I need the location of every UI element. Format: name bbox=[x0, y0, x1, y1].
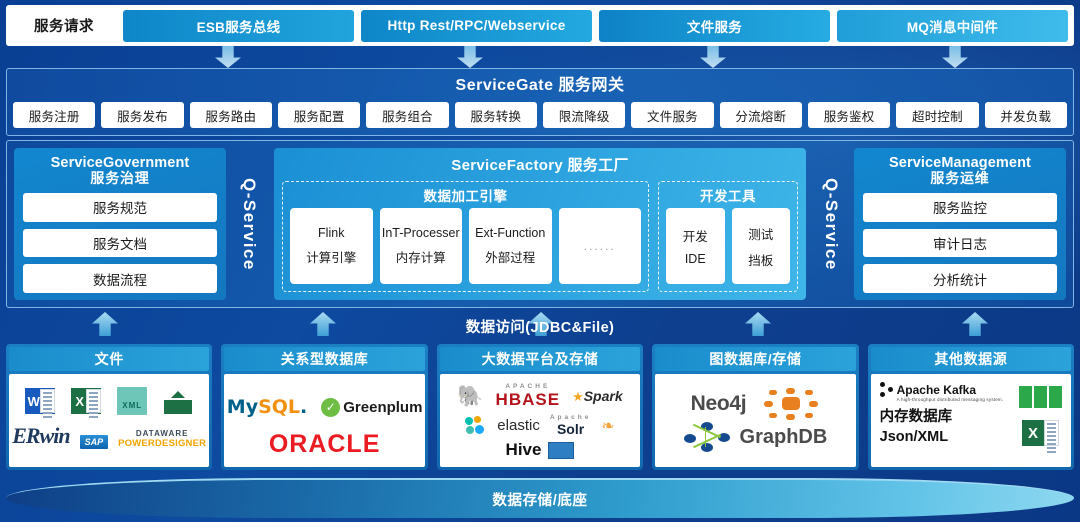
kafka-tagline: A high-throughput distributed messaging … bbox=[897, 397, 1004, 402]
engine-card-flink-l1: Flink bbox=[318, 226, 344, 240]
gate-item-service-transform[interactable]: 服务转换 bbox=[455, 102, 537, 128]
source-card-graph-db-body: Neo4j bbox=[655, 374, 855, 467]
gate-item-rate-limit[interactable]: 限流降级 bbox=[543, 102, 625, 128]
service-government-title-en: ServiceGovernment bbox=[23, 155, 217, 171]
dev-tools-group: 开发工具 开发 IDE 测试 挡板 bbox=[658, 181, 798, 292]
q-service-label-left: Q-Service bbox=[226, 148, 272, 300]
engine-card-ext-function-l2: 外部过程 bbox=[485, 247, 535, 266]
engine-card-more-l1: ...... bbox=[584, 239, 616, 253]
source-card-file-title: 文件 bbox=[9, 347, 209, 371]
service-factory-title: ServiceFactory 服务工厂 bbox=[282, 154, 798, 178]
tool-card-dev-ide[interactable]: 开发 IDE bbox=[666, 208, 725, 284]
hive-logo: Hive bbox=[506, 440, 542, 460]
service-request-bar: 服务请求 ESB服务总线 Http Rest/RPC/Webservice 文件… bbox=[6, 5, 1074, 46]
request-channel-mq[interactable]: MQ消息中间件 bbox=[837, 10, 1068, 42]
graphdb-node-icon bbox=[762, 388, 820, 420]
data-processing-engine-group: 数据加工引擎 Flink 计算引擎 InT-Processer 内存计算 Ext… bbox=[282, 181, 649, 292]
tool-card-test-mock-l1: 测试 bbox=[748, 224, 773, 243]
kafka-logo: Apache Kafka bbox=[880, 382, 1004, 397]
gate-item-service-route[interactable]: 服务路由 bbox=[190, 102, 272, 128]
flow-arrow-down-icon bbox=[700, 46, 726, 68]
spark-star-icon: ★ bbox=[572, 389, 584, 404]
request-channel-esb[interactable]: ESB服务总线 bbox=[123, 10, 354, 42]
tool-card-dev-ide-l1: 开发 bbox=[683, 226, 708, 245]
tool-card-dev-ide-l2: IDE bbox=[685, 252, 706, 266]
gov-item-service-doc[interactable]: 服务文档 bbox=[23, 229, 217, 258]
service-gate-capability-row: 服务注册 服务发布 服务路由 服务配置 服务组合 服务转换 限流降级 文件服务 … bbox=[13, 102, 1067, 128]
flow-arrow-down-icon bbox=[942, 46, 968, 68]
hive-file-icon bbox=[548, 442, 574, 459]
word-icon: W bbox=[25, 388, 55, 414]
request-channel-http[interactable]: Http Rest/RPC/Webservice bbox=[361, 10, 592, 42]
data-access-strip: 数据访问(JDBC&File) bbox=[0, 308, 1080, 344]
service-factory-body: 数据加工引擎 Flink 计算引擎 InT-Processer 内存计算 Ext… bbox=[282, 181, 798, 292]
xml-file-icon: XML bbox=[117, 387, 147, 415]
mgmt-item-analytics[interactable]: 分析统计 bbox=[863, 264, 1057, 293]
data-source-cards: 文件 W X XML bbox=[6, 344, 1074, 470]
elastic-logo: elastic bbox=[497, 417, 540, 434]
dev-tools-cards: 开发 IDE 测试 挡板 bbox=[666, 208, 790, 284]
data-processing-engine-cards: Flink 计算引擎 InT-Processer 内存计算 Ext-Functi… bbox=[290, 208, 641, 284]
service-management-panel: ServiceManagement 服务运维 服务监控 审计日志 分析统计 bbox=[854, 148, 1066, 300]
gov-item-service-spec[interactable]: 服务规范 bbox=[23, 193, 217, 222]
gate-item-service-config[interactable]: 服务配置 bbox=[278, 102, 360, 128]
source-card-other-title: 其他数据源 bbox=[871, 347, 1071, 371]
data-processing-engine-title: 数据加工引擎 bbox=[290, 186, 641, 208]
service-management-title-cn: 服务运维 bbox=[863, 171, 1057, 187]
service-platform-band: ServiceGovernment 服务治理 服务规范 服务文档 数据流程 Q-… bbox=[6, 140, 1074, 308]
neo4j-logo: Neo4j bbox=[691, 392, 747, 416]
excel-sheet-icon: X bbox=[1022, 420, 1059, 446]
dev-tools-title: 开发工具 bbox=[666, 186, 790, 208]
source-card-graph-db-title: 图数据库/存储 bbox=[655, 347, 855, 371]
memdb-label: 内存数据库 bbox=[880, 408, 1004, 428]
service-gate-title: ServiceGate 服务网关 bbox=[13, 73, 1067, 99]
jsonxml-label: Json/XML bbox=[880, 428, 1004, 448]
engine-card-flink-l2: 计算引擎 bbox=[306, 247, 356, 266]
source-card-bigdata[interactable]: 大数据平台及存储 🐘 APACHE HBASE ★Spark bbox=[437, 344, 643, 470]
service-government-panel: ServiceGovernment 服务治理 服务规范 服务文档 数据流程 bbox=[14, 148, 226, 300]
mgmt-item-service-monitor[interactable]: 服务监控 bbox=[863, 193, 1057, 222]
source-card-file-body: W X XML ERwin SAP bbox=[9, 374, 209, 467]
gate-item-service-register[interactable]: 服务注册 bbox=[13, 102, 95, 128]
tool-card-test-mock[interactable]: 测试 挡板 bbox=[732, 208, 791, 284]
spark-logo: ★Spark bbox=[572, 388, 623, 406]
engine-card-int-processer-l2: 内存计算 bbox=[396, 247, 446, 266]
service-gate-panel: ServiceGate 服务网关 服务注册 服务发布 服务路由 服务配置 服务组… bbox=[6, 68, 1074, 136]
source-card-bigdata-body: 🐘 APACHE HBASE ★Spark bbox=[440, 374, 640, 467]
green-grid-icon bbox=[1019, 386, 1062, 408]
service-management-title-en: ServiceManagement bbox=[863, 155, 1057, 171]
source-card-relational-db-body: MySQL. ✓ Greenplum ORACLE bbox=[224, 374, 424, 467]
gate-item-circuit-breaker[interactable]: 分流熔断 bbox=[720, 102, 802, 128]
gate-item-service-publish[interactable]: 服务发布 bbox=[101, 102, 183, 128]
service-government-items: 服务规范 服务文档 数据流程 bbox=[23, 193, 217, 293]
powerdesigner-logo: POWERDESIGNER bbox=[118, 438, 206, 449]
excel-icon: X bbox=[71, 388, 101, 414]
architecture-diagram: 服务请求 ESB服务总线 Http Rest/RPC/Webservice 文件… bbox=[0, 0, 1080, 522]
solr-flame-icon: ❧ bbox=[601, 416, 614, 436]
source-card-graph-db[interactable]: 图数据库/存储 Neo4j bbox=[652, 344, 858, 470]
service-management-items: 服务监控 审计日志 分析统计 bbox=[863, 193, 1057, 293]
tool-card-test-mock-l2: 挡板 bbox=[748, 250, 773, 269]
service-government-title-cn: 服务治理 bbox=[23, 171, 217, 187]
service-request-label: 服务请求 bbox=[12, 15, 116, 36]
engine-card-ext-function[interactable]: Ext-Function 外部过程 bbox=[469, 208, 552, 284]
engine-card-int-processer-l1: InT-Processer bbox=[382, 226, 460, 240]
engine-card-int-processer[interactable]: InT-Processer 内存计算 bbox=[380, 208, 463, 284]
source-card-relational-db-title: 关系型数据库 bbox=[224, 347, 424, 371]
source-card-other[interactable]: 其他数据源 Apache Kafka A high-throughput dis bbox=[868, 344, 1074, 470]
gate-item-timeout-control[interactable]: 超时控制 bbox=[896, 102, 978, 128]
solr-logo: Apache Solr bbox=[550, 414, 591, 437]
q-service-label-right: Q-Service bbox=[808, 148, 854, 300]
service-management-title: ServiceManagement 服务运维 bbox=[863, 155, 1057, 187]
dataware-logo: DATAWARE bbox=[136, 429, 189, 438]
request-channel-file[interactable]: 文件服务 bbox=[599, 10, 830, 42]
service-factory-panel: ServiceFactory 服务工厂 数据加工引擎 Flink 计算引擎 In… bbox=[274, 148, 806, 300]
source-card-relational-db[interactable]: 关系型数据库 MySQL. ✓ Greenplum ORACLE bbox=[221, 344, 427, 470]
base-plate: 数据存储/底座 bbox=[6, 478, 1074, 518]
greenplum-check-icon: ✓ bbox=[321, 398, 340, 417]
gate-item-file-service[interactable]: 文件服务 bbox=[631, 102, 713, 128]
neo4j-graph-icon bbox=[684, 422, 732, 452]
oracle-logo: ORACLE bbox=[269, 430, 381, 459]
source-card-file[interactable]: 文件 W X XML bbox=[6, 344, 212, 470]
green-doc-icon bbox=[163, 388, 193, 414]
elastic-icon bbox=[465, 416, 487, 436]
gov-item-data-flow[interactable]: 数据流程 bbox=[23, 264, 217, 293]
service-government-title: ServiceGovernment 服务治理 bbox=[23, 155, 217, 187]
gate-item-auth[interactable]: 服务鉴权 bbox=[808, 102, 890, 128]
engine-card-ext-function-l1: Ext-Function bbox=[475, 226, 545, 240]
graphdb-logo: GraphDB bbox=[740, 426, 828, 449]
flow-arrow-down-icon bbox=[457, 46, 483, 68]
data-access-label: 数据访问(JDBC&File) bbox=[466, 316, 615, 337]
mgmt-item-audit-log[interactable]: 审计日志 bbox=[863, 229, 1057, 258]
engine-card-flink[interactable]: Flink 计算引擎 bbox=[290, 208, 373, 284]
gate-item-service-compose[interactable]: 服务组合 bbox=[366, 102, 448, 128]
base-plate-label: 数据存储/底座 bbox=[492, 489, 587, 510]
source-card-bigdata-title: 大数据平台及存储 bbox=[440, 347, 640, 371]
kafka-icon bbox=[880, 382, 893, 397]
hive-elephant-icon: 🐘 bbox=[457, 385, 483, 409]
xml-label: XML bbox=[122, 401, 142, 410]
gate-item-concurrency-load[interactable]: 并发负载 bbox=[985, 102, 1067, 128]
hbase-logo: APACHE HBASE bbox=[496, 383, 561, 410]
source-card-other-body: Apache Kafka A high-throughput distribut… bbox=[871, 374, 1071, 467]
greenplum-logo: ✓ Greenplum bbox=[321, 398, 422, 417]
erwin-logo: ERwin bbox=[12, 423, 69, 449]
mysql-logo: MySQL. bbox=[227, 396, 307, 418]
sap-logo: SAP bbox=[80, 435, 109, 449]
engine-card-more[interactable]: ...... bbox=[559, 208, 642, 284]
flow-arrow-down-icon bbox=[215, 46, 241, 68]
